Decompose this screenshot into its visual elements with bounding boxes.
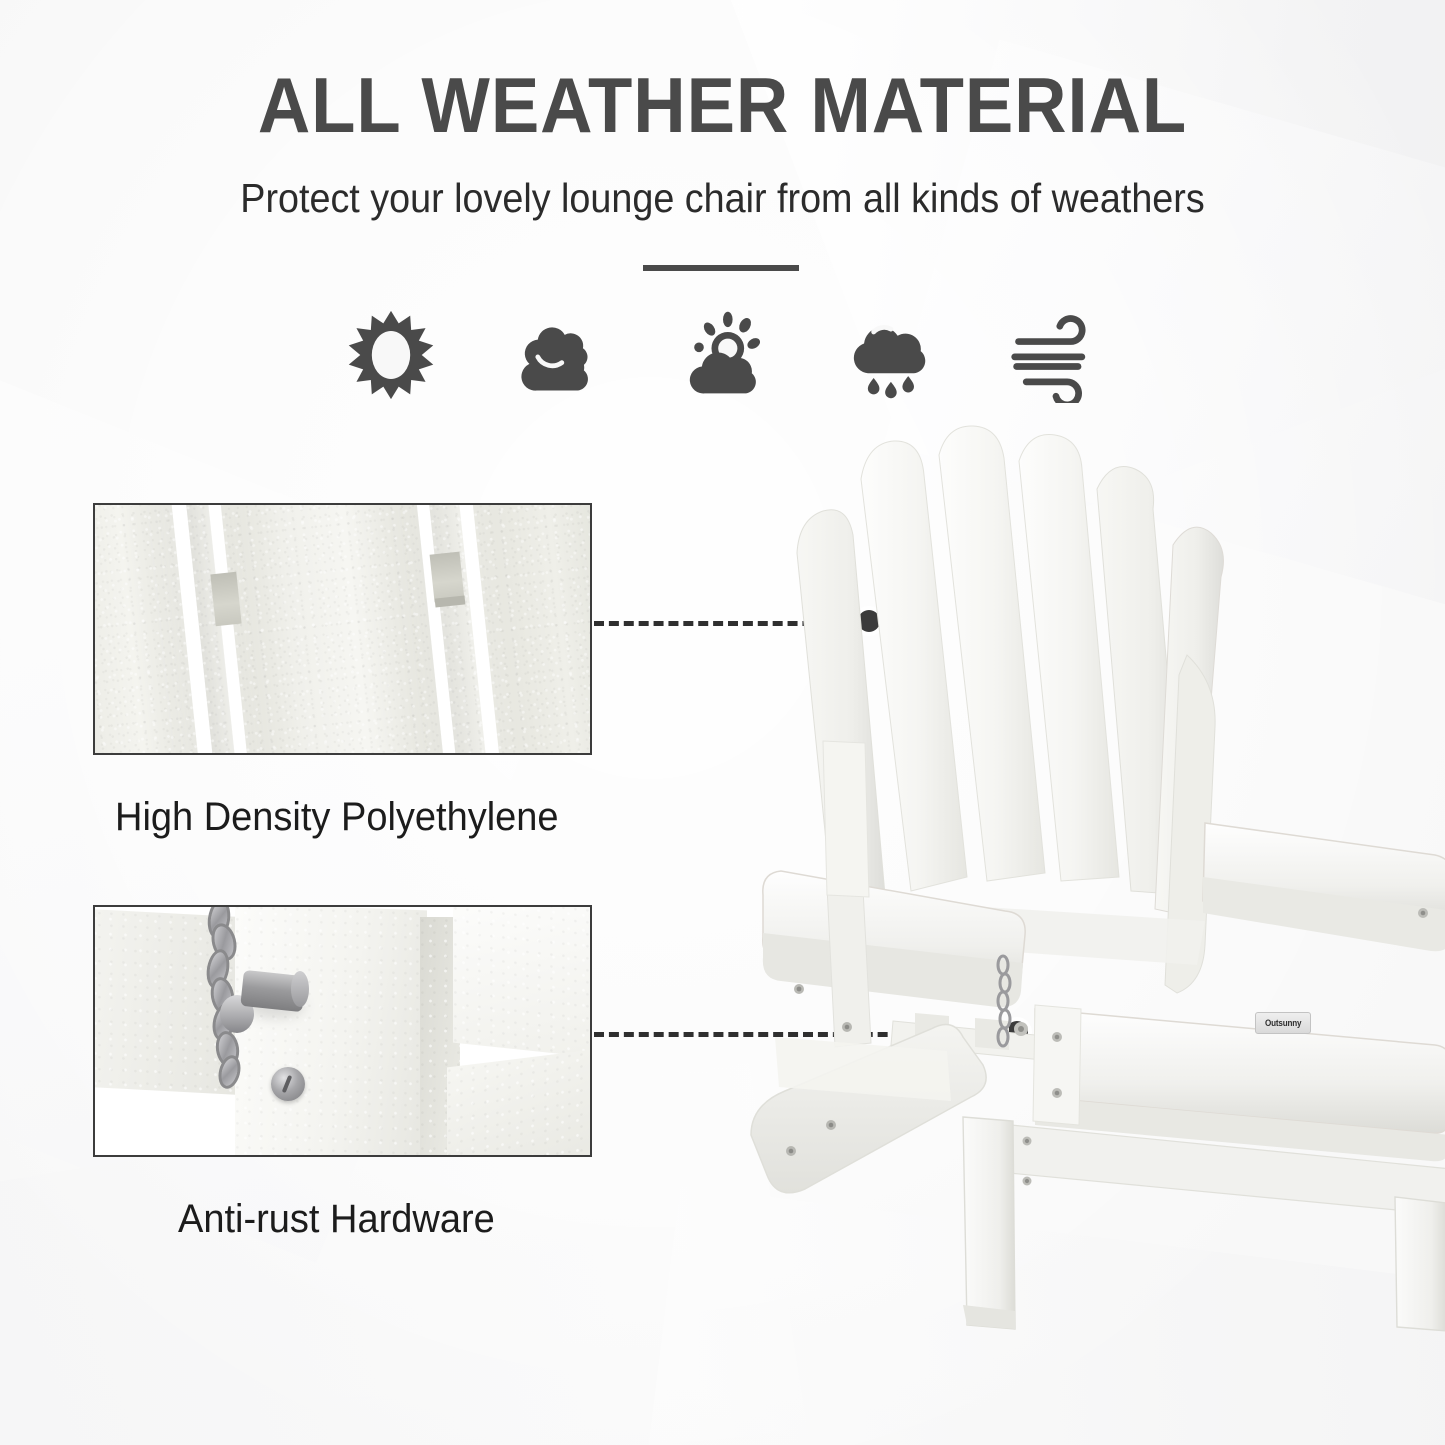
header: ALL WEATHER MATERIAL Protect your lovely…	[0, 66, 1445, 219]
wind-icon	[1000, 300, 1110, 410]
sun-icon	[336, 300, 446, 410]
detail-panel-hardware: Anti-rust Hardware	[93, 905, 592, 1239]
detail-caption-hdpe: High Density Polyethylene	[115, 797, 568, 837]
weather-icon-row	[0, 300, 1445, 410]
brand-badge-label: Outsunny	[1265, 1018, 1301, 1028]
infographic-canvas: ALL WEATHER MATERIAL Protect your lovely…	[0, 0, 1445, 1445]
detail-image-hdpe	[93, 503, 592, 755]
page-title: ALL WEATHER MATERIAL	[51, 66, 1395, 144]
cloud-icon	[502, 300, 612, 410]
page-subtitle: Protect your lovely lounge chair from al…	[58, 178, 1387, 219]
detail-image-hardware	[93, 905, 592, 1157]
hardware-closeup-art	[95, 907, 590, 1155]
partly-cloudy-icon	[668, 300, 778, 410]
rain-cloud-icon	[834, 300, 944, 410]
detail-caption-hardware: Anti-rust Hardware	[178, 1199, 571, 1239]
detail-panel-hdpe: High Density Polyethylene	[93, 503, 592, 837]
brand-badge: Outsunny	[1255, 1012, 1311, 1034]
header-divider	[643, 265, 799, 271]
product-image-adirondack-chair	[735, 425, 1445, 1335]
hdpe-texture-art	[95, 505, 590, 753]
